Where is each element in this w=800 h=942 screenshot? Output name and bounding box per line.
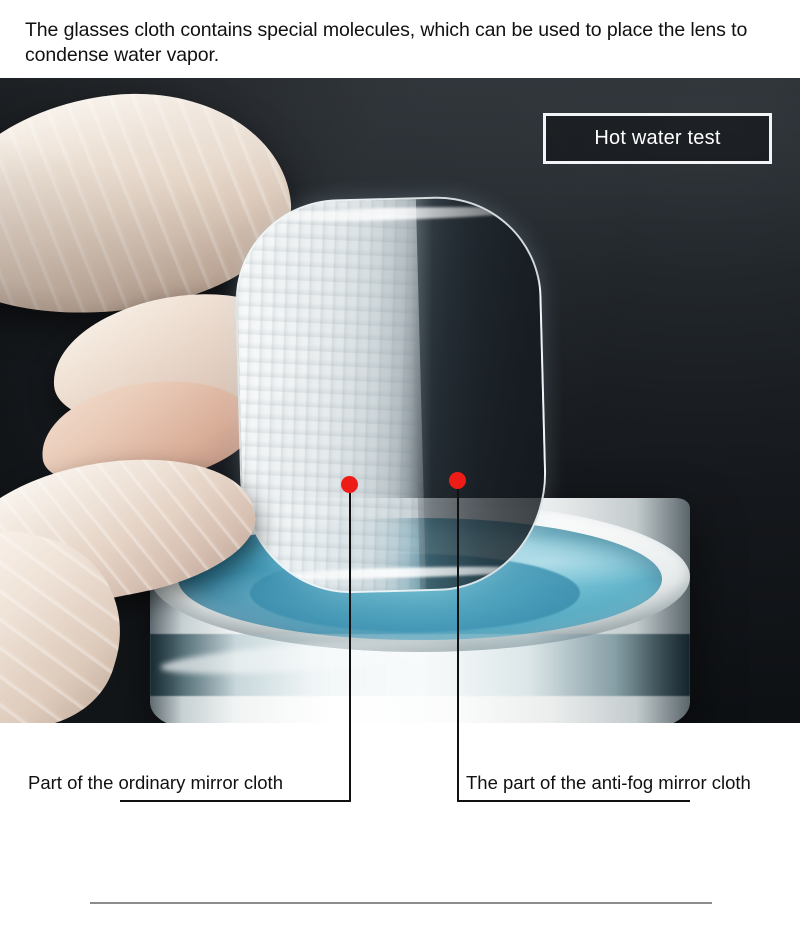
marker-dot-ordinary-cloth bbox=[341, 476, 358, 493]
annotation-label-anti-fog-cloth: The part of the anti-fog mirror cloth bbox=[466, 772, 751, 794]
product-photo: Hot water test bbox=[0, 78, 800, 723]
lens-fog-streak-texture bbox=[235, 199, 426, 594]
lens-clear-half bbox=[410, 196, 547, 589]
marker-dot-anti-fog-cloth bbox=[449, 472, 466, 489]
annotation-underline-anti-fog-cloth bbox=[458, 800, 690, 802]
leader-line-anti-fog-cloth bbox=[457, 489, 459, 802]
leader-line-ordinary-cloth bbox=[349, 493, 351, 802]
hot-water-test-badge: Hot water test bbox=[543, 113, 772, 164]
annotation-label-ordinary-cloth: Part of the ordinary mirror cloth bbox=[28, 772, 283, 794]
annotation-underline-ordinary-cloth bbox=[120, 800, 350, 802]
lens-fogged-half bbox=[235, 199, 426, 594]
footer-divider bbox=[90, 902, 712, 904]
page-header-caption: The glasses cloth contains special molec… bbox=[25, 18, 755, 68]
eyeglass-lens bbox=[233, 194, 549, 596]
hot-water-test-label: Hot water test bbox=[594, 127, 720, 150]
